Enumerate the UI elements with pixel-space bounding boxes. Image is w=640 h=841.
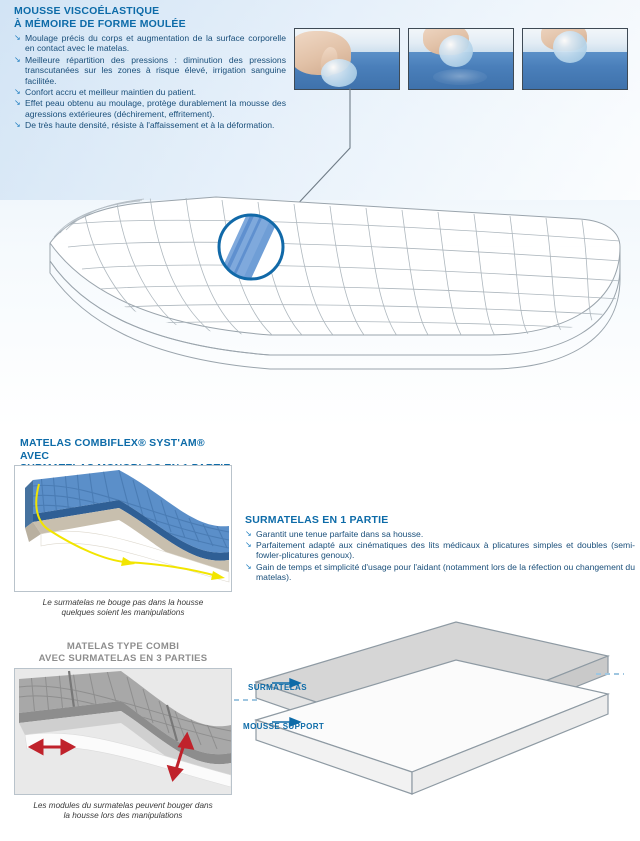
intro-bullet-list: ↘ Moulage précis du corps et augmentatio… [14, 33, 286, 131]
photo-grayscale-mattress-3-modules [14, 668, 232, 795]
intro-title-line1: MOUSSE VISCOÉLASTIQUE [14, 5, 286, 18]
list-item-text: Moulage précis du corps et augmentation … [25, 33, 286, 53]
list-item-text: Confort accru et meilleur maintien du pa… [25, 87, 196, 97]
list-item-text: Effet peau obtenu au moulage, protège du… [25, 98, 286, 118]
document-page: MOUSSE VISCOÉLASTIQUE À MÉMOIRE DE FORME… [0, 0, 640, 841]
arrow-bullet-icon: ↘ [14, 88, 21, 96]
photo-foam-imprint [433, 69, 487, 85]
list-item-text: Garantit une tenue parfaite dans sa hous… [256, 529, 423, 539]
surmatelas-1-partie-title: SURMATELAS EN 1 PARTIE [245, 514, 635, 527]
list-item-text: Meilleure répartition des pressions : di… [25, 55, 286, 86]
arrow-bullet-icon: ↘ [245, 563, 252, 571]
list-item: ↘ Confort accru et meilleur maintien du … [14, 87, 286, 97]
list-item-text: Parfaitement adapté aux cinématiques des… [256, 540, 635, 560]
list-item: ↘ Effet peau obtenu au moulage, protège … [14, 98, 286, 119]
label-surmatelas: SURMATELAS [248, 683, 307, 692]
combiflex-caption-line2: quelques soient les manipulations [10, 608, 236, 618]
combi-caption-line2: la housse lors des manipulations [8, 811, 238, 821]
combi-photo-graphic [15, 669, 232, 795]
combi-title-line1: MATELAS TYPE COMBI [14, 641, 232, 653]
arrow-bullet-icon: ↘ [14, 99, 21, 107]
arrow-bullet-icon: ↘ [245, 541, 252, 549]
intro-title-line2: À MÉMOIRE DE FORME MOULÉE [14, 18, 286, 31]
combiflex-title-line1: MATELAS COMBIFLEX® SYST'AM® AVEC [20, 437, 235, 462]
combi-caption-line1: Les modules du surmatelas peuvent bouger… [8, 801, 238, 811]
photo-gel-ball [553, 31, 587, 63]
combi-title: MATELAS TYPE COMBI AVEC SURMATELAS EN 3 … [14, 641, 232, 665]
arrow-bullet-icon: ↘ [14, 34, 21, 42]
intro-text-block: MOUSSE VISCOÉLASTIQUE À MÉMOIRE DE FORME… [14, 5, 286, 132]
surmatelas-1-partie-bullet-list: ↘ Garantit une tenue parfaite dans sa ho… [245, 529, 635, 583]
exploded-mattress-layers-diagram [232, 618, 632, 818]
mattress-outline [50, 197, 620, 369]
list-item: ↘ Garantit une tenue parfaite dans sa ho… [245, 529, 635, 539]
photo-gel-ball [439, 35, 473, 67]
list-item: ↘ Parfaitement adapté aux cinématiques d… [245, 540, 635, 561]
curved-mattress-line-drawing [20, 185, 630, 430]
intro-title: MOUSSE VISCOÉLASTIQUE À MÉMOIRE DE FORME… [14, 5, 286, 30]
list-item: ↘ Gain de temps et simplicité d'usage po… [245, 562, 635, 583]
list-item: ↘ De très haute densité, résiste à l'aff… [14, 120, 286, 130]
photo-ball-lifted-foam-imprint-remains [408, 28, 514, 90]
combi-caption: Les modules du surmatelas peuvent bouger… [8, 801, 238, 821]
list-item: ↘ Meilleure répartition des pressions : … [14, 55, 286, 86]
list-item-text: De très haute densité, résiste à l'affai… [25, 120, 274, 130]
photo-hand-pressing-ball-into-foam [294, 28, 400, 90]
arrow-bullet-icon: ↘ [245, 530, 252, 538]
list-item: ↘ Moulage précis du corps et augmentatio… [14, 33, 286, 54]
combiflex-photo-graphic [15, 466, 232, 592]
photo-strip [294, 28, 628, 90]
list-item-text: Gain de temps et simplicité d'usage pour… [256, 562, 635, 582]
arrow-bullet-icon: ↘ [14, 56, 21, 64]
photo-blue-mattress-monobloc [14, 465, 232, 592]
combi-title-line2: AVEC SURMATELAS EN 3 PARTIES [14, 653, 232, 665]
arrow-bullet-icon: ↘ [14, 121, 21, 129]
combiflex-caption-line1: Le surmatelas ne bouge pas dans la houss… [10, 598, 236, 608]
label-mousse-support: MOUSSE SUPPORT [243, 722, 324, 731]
photo-ball-held-above-recovered-foam [522, 28, 628, 90]
combiflex-caption: Le surmatelas ne bouge pas dans la houss… [10, 598, 236, 618]
photo-gel-ball [321, 59, 357, 87]
surmatelas-1-partie-block: SURMATELAS EN 1 PARTIE ↘ Garantit une te… [245, 514, 635, 584]
